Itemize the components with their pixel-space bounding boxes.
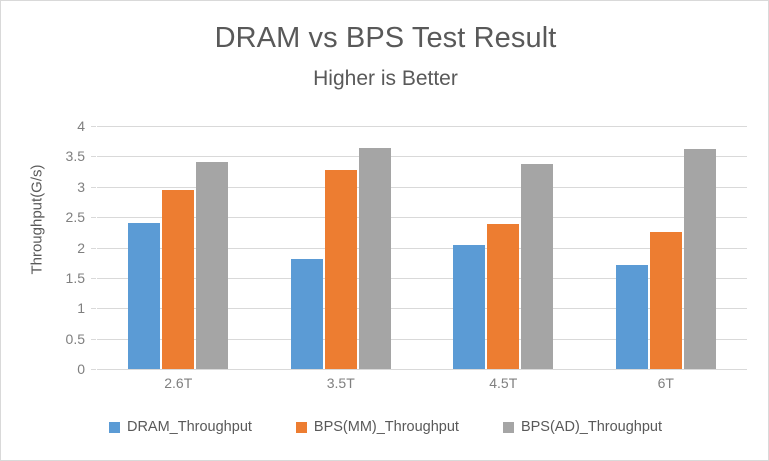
y-axis-tick [91, 126, 96, 127]
legend-label: BPS(AD)_Throughput [521, 419, 662, 435]
legend-item[interactable]: BPS(AD)_Throughput [503, 419, 662, 435]
x-axis-tick-label: 4.5T [489, 375, 517, 391]
y-axis-tick-label: 3.5 [66, 148, 85, 164]
y-axis-tick [91, 308, 96, 309]
plot-area: 43.532.521.510.50 [97, 126, 747, 369]
y-axis-title: Throughput(G/s) [29, 120, 46, 320]
y-axis-tick-label: 3 [77, 179, 85, 195]
legend-swatch-icon [503, 422, 514, 433]
legend-label: DRAM_Throughput [127, 419, 252, 435]
y-axis-tick-label: 4 [77, 118, 85, 134]
chart-legend: DRAM_ThroughputBPS(MM)_ThroughputBPS(AD)… [1, 419, 769, 435]
bar[interactable] [162, 190, 194, 369]
y-axis-tick [91, 369, 96, 370]
bar[interactable] [521, 164, 553, 369]
y-axis-tick-label: 1 [77, 300, 85, 316]
x-axis-tick-label: 2.6T [164, 375, 192, 391]
y-axis-tick-label: 2 [77, 240, 85, 256]
x-axis-line [97, 369, 747, 370]
y-axis-tick [91, 156, 96, 157]
bar[interactable] [359, 148, 391, 369]
y-axis-tick [91, 187, 96, 188]
bar-group [422, 126, 585, 369]
y-axis-tick [91, 278, 96, 279]
legend-label: BPS(MM)_Throughput [314, 419, 459, 435]
bar[interactable] [196, 162, 228, 369]
bar[interactable] [616, 265, 648, 369]
legend-swatch-icon [109, 422, 120, 433]
chart-subtitle: Higher is Better [1, 67, 769, 91]
x-axis-tick-label: 3.5T [327, 375, 355, 391]
y-axis-tick [91, 248, 96, 249]
y-axis-tick-label: 2.5 [66, 209, 85, 225]
bar[interactable] [650, 232, 682, 369]
bar-group [260, 126, 423, 369]
bar[interactable] [487, 224, 519, 369]
bar[interactable] [128, 223, 160, 369]
bar-group [97, 126, 260, 369]
chart-container: DRAM vs BPS Test Result Higher is Better… [0, 0, 769, 461]
y-axis-tick [91, 217, 96, 218]
bar[interactable] [453, 245, 485, 369]
bar[interactable] [684, 149, 716, 369]
bar[interactable] [291, 259, 323, 369]
y-axis-tick-label: 1.5 [66, 270, 85, 286]
chart-title: DRAM vs BPS Test Result [1, 22, 769, 55]
legend-item[interactable]: DRAM_Throughput [109, 419, 252, 435]
y-axis-tick [91, 339, 96, 340]
legend-swatch-icon [296, 422, 307, 433]
bar-group [585, 126, 748, 369]
bar[interactable] [325, 170, 357, 369]
legend-item[interactable]: BPS(MM)_Throughput [296, 419, 459, 435]
y-axis-tick-label: 0 [77, 361, 85, 377]
x-axis-tick-label: 6T [658, 375, 674, 391]
y-axis-tick-label: 0.5 [66, 331, 85, 347]
